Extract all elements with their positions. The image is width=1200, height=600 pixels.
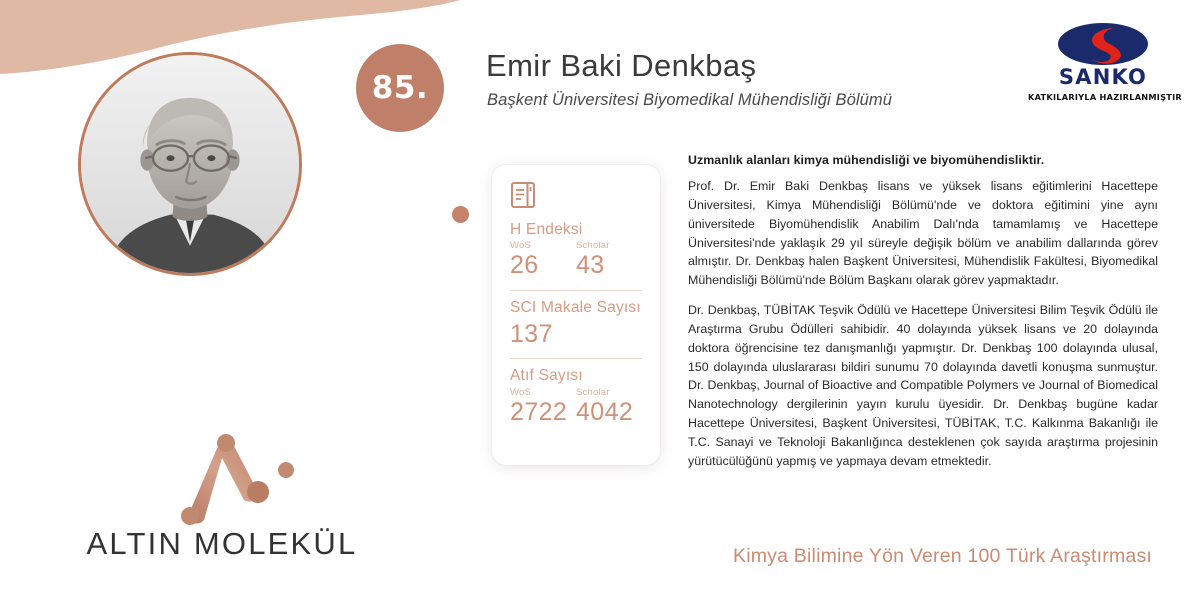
- brand-wordmark: ALTIN MOLEKÜL: [72, 526, 372, 562]
- accent-dot: [452, 206, 469, 223]
- sponsor-wordmark: SANKO: [1028, 67, 1178, 88]
- metric-group-h-index: H Endeksi WoS 26 Scholar 43: [510, 221, 642, 281]
- biography-lead: Uzmanlık alanları kimya mühendisliği ve …: [688, 152, 1158, 170]
- metric-item: 137: [510, 318, 642, 350]
- metric-source: WoS: [510, 240, 576, 251]
- divider: [510, 290, 642, 291]
- portrait-illustration: [81, 55, 299, 273]
- biography-section: Uzmanlık alanları kimya mühendisliği ve …: [688, 152, 1158, 471]
- biography-paragraph: Dr. Denkbaş, TÜBİTAK Teşvik Ödülü ve Hac…: [688, 301, 1158, 471]
- rank-number: 85.: [372, 70, 428, 106]
- book-icon: [510, 181, 536, 209]
- metric-label: H Endeksi: [510, 221, 642, 238]
- page-title: Emir Baki Denkbaş: [486, 48, 756, 84]
- metrics-card: H Endeksi WoS 26 Scholar 43 SCI Makale S…: [492, 165, 660, 465]
- metric-values-row: WoS 26 Scholar 43: [510, 240, 642, 281]
- sponsor-logo: SANKO KATKILARIYLA HAZIRLANMIŞTIR: [1028, 22, 1178, 104]
- footer-tagline: Kimya Bilimine Yön Veren 100 Türk Araştı…: [733, 545, 1152, 568]
- metric-values-row: WoS 2722 Scholar 4042: [510, 387, 642, 428]
- metric-value: 137: [510, 320, 642, 350]
- sponsor-caption: KATKILARIYLA HAZIRLANMIŞTIR: [1028, 92, 1178, 102]
- portrait-photo: [78, 52, 302, 276]
- metric-source: WoS: [510, 387, 576, 398]
- divider: [510, 358, 642, 359]
- metric-source: Scholar: [576, 240, 642, 251]
- affiliation: Başkent Üniversitesi Biyomedikal Mühendi…: [487, 91, 892, 110]
- metric-label: Atıf Sayısı: [510, 367, 642, 384]
- metric-values-row: 137: [510, 318, 642, 350]
- metric-item: WoS 2722: [510, 387, 576, 428]
- biography-paragraph: Prof. Dr. Emir Baki Denkbaş lisans ve yü…: [688, 177, 1158, 290]
- metric-value: 2722: [510, 398, 576, 428]
- molecule-icon: [172, 430, 312, 526]
- metric-item: Scholar 4042: [576, 387, 642, 428]
- metric-label: SCI Makale Sayısı: [510, 299, 642, 316]
- metric-source: Scholar: [576, 387, 642, 398]
- metric-value: 4042: [576, 398, 642, 428]
- rank-badge: 85.: [356, 44, 444, 132]
- brand-logo: ALTIN MOLEKÜL: [72, 430, 372, 570]
- metric-value: 43: [576, 251, 642, 281]
- poster-page: 85. Emir Baki Denkbaş Başkent Üniversite…: [0, 0, 1200, 600]
- metric-group-citations: Atıf Sayısı WoS 2722 Scholar 4042: [510, 367, 642, 427]
- sanko-mark-icon: [1044, 22, 1162, 66]
- metric-value: 26: [510, 251, 576, 281]
- metric-item: WoS 26: [510, 240, 576, 281]
- metric-item: Scholar 43: [576, 240, 642, 281]
- metric-group-sci-articles: SCI Makale Sayısı 137: [510, 299, 642, 350]
